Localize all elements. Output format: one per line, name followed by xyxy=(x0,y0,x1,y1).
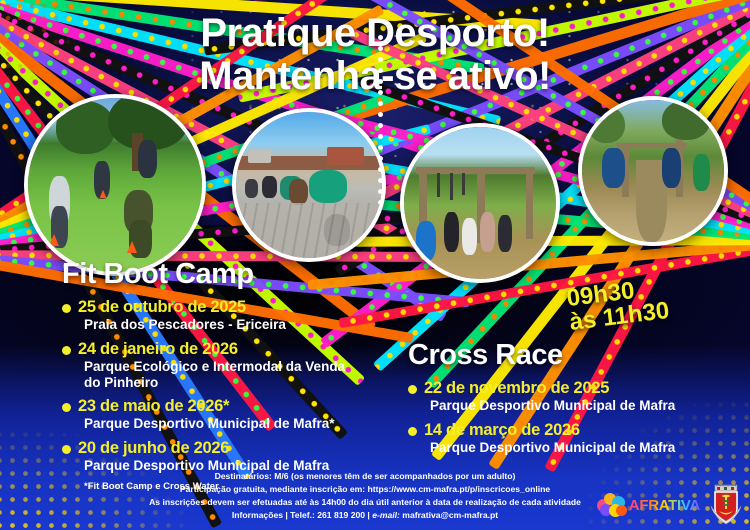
bullet-dot-icon xyxy=(62,304,71,313)
event-list-fit-boot-camp: 25 de outubro de 2025 Praia dos Pescador… xyxy=(62,298,362,474)
bullet-dot-icon xyxy=(408,385,417,394)
event-date: 25 de outubro de 2025 xyxy=(78,298,362,316)
bullet-dot-icon xyxy=(62,445,71,454)
event-place: Parque Desportivo Municipal de Mafra* xyxy=(78,416,362,432)
event-place: Praia dos Pescadores - Ericeira xyxy=(78,317,362,333)
event-date: 23 de maio de 2026* xyxy=(78,397,362,415)
event-place: Parque Desportivo Municipal de Mafra xyxy=(424,440,708,456)
list-item: 14 de março de 2026 Parque Desportivo Mu… xyxy=(408,421,708,456)
logo-group: AFRATIVA xyxy=(597,484,744,526)
contact-prefix: Informações | Telef.: 261 819 200 | xyxy=(232,510,372,520)
dotted-column-divider xyxy=(378,32,383,204)
photo-trail-stretch xyxy=(578,96,728,246)
event-place: Parque Ecológico e Intermodal da Venda d… xyxy=(78,359,362,390)
event-place: Parque Desportivo Municipal de Mafra xyxy=(424,398,708,414)
event-date: 24 de janeiro de 2026 xyxy=(78,340,362,358)
headline-line-1: Pratique Desporto! xyxy=(0,14,750,54)
footer-line-audience: Destinatários: M/6 (os menores têm de se… xyxy=(40,470,690,483)
list-item: 22 de novembro de 2025 Parque Desportivo… xyxy=(408,379,708,414)
mafrativa-wordmark: AFRATIVA xyxy=(629,497,700,514)
column-title: Cross Race xyxy=(408,339,708,372)
bullet-dot-icon xyxy=(62,346,71,355)
mafrativa-mark-icon xyxy=(597,493,627,517)
list-item: 25 de outubro de 2025 Praia dos Pescador… xyxy=(62,298,362,333)
footer-line-registration: Participação gratuita, mediante inscriçã… xyxy=(40,483,690,496)
bullet-dot-icon xyxy=(62,403,71,412)
bullet-dot-icon xyxy=(408,427,417,436)
list-item: 20 de junho de 2026 Parque Desportivo Mu… xyxy=(62,439,362,474)
page-title: Pratique Desporto! Mantenha-se ativo! xyxy=(0,14,750,96)
mafrativa-logo: AFRATIVA xyxy=(597,493,700,517)
event-list-cross-race: 22 de novembro de 2025 Parque Desportivo… xyxy=(408,379,708,456)
column-fit-boot-camp: Fit Boot Camp 25 de outubro de 2025 Prai… xyxy=(62,258,362,492)
photo-plank-row xyxy=(232,108,386,262)
email-label: e-mail: xyxy=(372,510,400,520)
column-cross-race: Cross Race 22 de novembro de 2025 Parque… xyxy=(408,339,708,463)
list-item: 23 de maio de 2026* Parque Desportivo Mu… xyxy=(62,397,362,432)
poster-root: Pratique Desporto! Mantenha-se ativo! xyxy=(0,0,750,530)
list-item: 24 de janeiro de 2026 Parque Ecológico e… xyxy=(62,340,362,390)
column-title: Fit Boot Camp xyxy=(62,258,362,291)
headline-line-2: Mantenha-se ativo! xyxy=(0,57,750,97)
footer-line-deadline: As inscrições devem ser efetuadas até às… xyxy=(40,496,690,509)
mafra-coat-of-arms-icon xyxy=(708,484,744,526)
event-date: 22 de novembro de 2025 xyxy=(424,379,708,397)
footer-line-contact: Informações | Telef.: 261 819 200 | e-ma… xyxy=(40,509,690,522)
email-address: mafrativa@cm-mafra.pt xyxy=(400,510,498,520)
event-date: 14 de março de 2026 xyxy=(424,421,708,439)
event-date: 20 de junho de 2026 xyxy=(78,439,362,457)
photo-boot-camp-park xyxy=(24,94,206,276)
